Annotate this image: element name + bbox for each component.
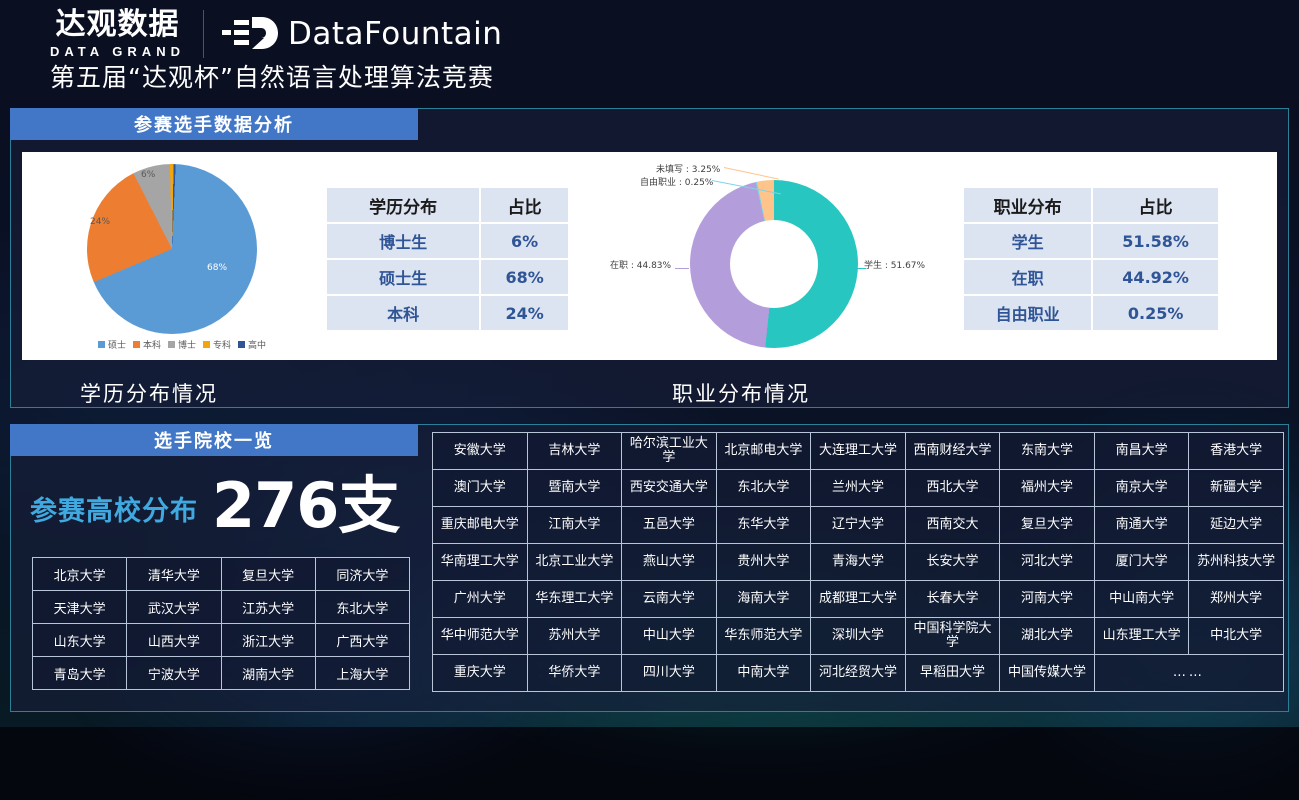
edu-header-0: 学历分布 xyxy=(326,187,480,223)
university-cell: 大连理工大学 xyxy=(811,433,906,470)
university-cell: 早稻田大学 xyxy=(905,655,1000,692)
university-cell: 南京大学 xyxy=(1094,470,1189,507)
school-count-label: 参赛高校分布 xyxy=(30,489,198,536)
donut-label-freelance: 自由职业 : 0.25% xyxy=(640,175,713,188)
legend-label-3: 专科 xyxy=(213,338,231,351)
university-cell: 辽宁大学 xyxy=(811,507,906,544)
job-cell-2-0: 自由职业 xyxy=(963,295,1092,331)
university-cell: 华侨大学 xyxy=(527,655,622,692)
university-cell: 华中师范大学 xyxy=(433,618,528,655)
university-cell: 重庆邮电大学 xyxy=(433,507,528,544)
university-cell: 燕山大学 xyxy=(622,544,717,581)
page-header: 达观数据 DATA GRAND DataFountain 第五届“达观杯”自然语… xyxy=(0,0,1299,100)
caption-occupation: 职业分布情况 xyxy=(672,378,810,408)
university-cell: 山东理工大学 xyxy=(1094,618,1189,655)
university-cell: 湖南大学 xyxy=(221,657,315,690)
datagrand-logo: 达观数据 DATA GRAND xyxy=(50,10,185,58)
university-cell: 贵州大学 xyxy=(716,544,811,581)
legend-label-0: 硕士 xyxy=(108,338,126,351)
university-cell: 华东理工大学 xyxy=(527,581,622,618)
table-row: 澳门大学暨南大学西安交通大学东北大学兰州大学西北大学福州大学南京大学新疆大学 xyxy=(433,470,1284,507)
legend-label-1: 本科 xyxy=(143,338,161,351)
university-cell: 广州大学 xyxy=(433,581,528,618)
edu-cell-1-1: 68% xyxy=(480,259,569,295)
job-cell-2-1: 0.25% xyxy=(1092,295,1219,331)
pie-label-bachelor: 24% xyxy=(90,217,110,227)
university-cell: 郑州大学 xyxy=(1189,581,1284,618)
caption-education: 学历分布情况 xyxy=(80,378,218,408)
university-cell: 北京工业大学 xyxy=(527,544,622,581)
legend-item-3: 专科 xyxy=(203,338,231,351)
table-row: 职业分布 占比 xyxy=(963,187,1219,223)
job-cell-0-0: 学生 xyxy=(963,223,1092,259)
university-cell: 东北大学 xyxy=(716,470,811,507)
university-cell: 东南大学 xyxy=(1000,433,1095,470)
university-cell: 安徽大学 xyxy=(433,433,528,470)
donut-label-unfilled: 未填写 : 3.25% xyxy=(656,162,720,175)
education-pie-chart: 68% 24% 6% 硕士 本科 博士 专科 高中 xyxy=(62,160,302,355)
university-cell: 东北大学 xyxy=(315,591,409,624)
donut-label-employed: 在职 : 44.83% xyxy=(610,258,671,271)
university-cell: 北京大学 xyxy=(33,558,127,591)
table-row: 天津大学武汉大学江苏大学东北大学 xyxy=(33,591,410,624)
pie-graphic xyxy=(87,164,257,334)
university-cell: 南昌大学 xyxy=(1094,433,1189,470)
table-row: 广州大学华东理工大学云南大学海南大学成都理工大学长春大学河南大学中山南大学郑州大… xyxy=(433,581,1284,618)
legend-label-4: 高中 xyxy=(248,338,266,351)
table-row: 自由职业 0.25% xyxy=(963,295,1219,331)
occupation-donut-chart: 学生 : 51.67% 在职 : 44.83% 自由职业 : 0.25% 未填写… xyxy=(612,158,957,356)
university-cell: 湖北大学 xyxy=(1000,618,1095,655)
pie-legend: 硕士 本科 博士 专科 高中 xyxy=(62,338,302,351)
university-cell: 河南大学 xyxy=(1000,581,1095,618)
legend-item-0: 硕士 xyxy=(98,338,126,351)
university-cell: 广西大学 xyxy=(315,624,409,657)
education-distribution-table: 学历分布 占比 博士生 6% 硕士生 68% 本科 24% xyxy=(325,186,570,332)
pie-label-doctor: 6% xyxy=(141,170,155,180)
university-cell: 山东大学 xyxy=(33,624,127,657)
university-cell: 武汉大学 xyxy=(127,591,221,624)
edu-cell-0-1: 6% xyxy=(480,223,569,259)
university-cell: 西北大学 xyxy=(905,470,1000,507)
table-row: 本科 24% xyxy=(326,295,569,331)
university-cell: 西南交大 xyxy=(905,507,1000,544)
featured-universities-table: 北京大学清华大学复旦大学同济大学天津大学武汉大学江苏大学东北大学山东大学山西大学… xyxy=(32,557,410,690)
university-cell: 海南大学 xyxy=(716,581,811,618)
table-row: 华中师范大学苏州大学中山大学华东师范大学深圳大学中国科学院大学湖北大学山东理工大… xyxy=(433,618,1284,655)
university-cell: 天津大学 xyxy=(33,591,127,624)
job-cell-1-0: 在职 xyxy=(963,259,1092,295)
university-cell: 厦门大学 xyxy=(1094,544,1189,581)
university-cell: 青岛大学 xyxy=(33,657,127,690)
table-row: 重庆邮电大学江南大学五邑大学东华大学辽宁大学西南交大复旦大学南通大学延边大学 xyxy=(433,507,1284,544)
table-row: 学历分布 占比 xyxy=(326,187,569,223)
university-cell: 苏州大学 xyxy=(527,618,622,655)
university-cell: 中山南大学 xyxy=(1094,581,1189,618)
university-cell: 清华大学 xyxy=(127,558,221,591)
university-cell: 山西大学 xyxy=(127,624,221,657)
datagrand-logo-en: DATA GRAND xyxy=(50,45,185,58)
job-cell-0-1: 51.58% xyxy=(1092,223,1219,259)
table-row: 北京大学清华大学复旦大学同济大学 xyxy=(33,558,410,591)
legend-item-4: 高中 xyxy=(238,338,266,351)
edu-cell-2-0: 本科 xyxy=(326,295,480,331)
logo-divider xyxy=(203,10,204,58)
university-cell: 江南大学 xyxy=(527,507,622,544)
university-cell: 哈尔滨工业大学 xyxy=(622,433,717,470)
table-row: 华南理工大学北京工业大学燕山大学贵州大学青海大学长安大学河北大学厦门大学苏州科技… xyxy=(433,544,1284,581)
legend-item-1: 本科 xyxy=(133,338,161,351)
table-row: 重庆大学华侨大学四川大学中南大学河北经贸大学早稻田大学中国传媒大学…… xyxy=(433,655,1284,692)
university-cell: 成都理工大学 xyxy=(811,581,906,618)
table-row: 学生 51.58% xyxy=(963,223,1219,259)
university-cell: 青海大学 xyxy=(811,544,906,581)
competition-subtitle: 第五届“达观杯”自然语言处理算法竞赛 xyxy=(50,58,494,94)
university-cell: 南通大学 xyxy=(1094,507,1189,544)
occupation-distribution-table: 职业分布 占比 学生 51.58% 在职 44.92% 自由职业 0.25% xyxy=(962,186,1220,332)
university-cell: 云南大学 xyxy=(622,581,717,618)
university-cell: 重庆大学 xyxy=(433,655,528,692)
university-cell: 兰州大学 xyxy=(811,470,906,507)
datagrand-logo-cn: 达观数据 xyxy=(55,10,179,40)
university-cell: 浙江大学 xyxy=(221,624,315,657)
university-cell: 中南大学 xyxy=(716,655,811,692)
university-cell: 香港大学 xyxy=(1189,433,1284,470)
university-cell: 深圳大学 xyxy=(811,618,906,655)
edu-cell-0-0: 博士生 xyxy=(326,223,480,259)
university-cell: 西南财经大学 xyxy=(905,433,1000,470)
table-row: 博士生 6% xyxy=(326,223,569,259)
university-cell-more: …… xyxy=(1094,655,1283,692)
university-cell: 福州大学 xyxy=(1000,470,1095,507)
university-cell: 新疆大学 xyxy=(1189,470,1284,507)
university-cell: 长安大学 xyxy=(905,544,1000,581)
datafountain-mark-icon xyxy=(222,14,280,54)
table-row: 硕士生 68% xyxy=(326,259,569,295)
panel-title-bottom: 选手院校一览 xyxy=(10,424,418,456)
datafountain-logo: DataFountain xyxy=(222,14,502,54)
edu-cell-1-0: 硕士生 xyxy=(326,259,480,295)
table-row: 安徽大学吉林大学哈尔滨工业大学北京邮电大学大连理工大学西南财经大学东南大学南昌大… xyxy=(433,433,1284,470)
pie-label-master: 68% xyxy=(207,263,227,273)
university-cell: 河北大学 xyxy=(1000,544,1095,581)
university-cell: 宁波大学 xyxy=(127,657,221,690)
university-cell: 上海大学 xyxy=(315,657,409,690)
university-cell: 北京邮电大学 xyxy=(716,433,811,470)
legend-label-2: 博士 xyxy=(178,338,196,351)
university-cell: 四川大学 xyxy=(622,655,717,692)
university-cell: 复旦大学 xyxy=(221,558,315,591)
university-cell: 中国科学院大学 xyxy=(905,618,1000,655)
job-header-1: 占比 xyxy=(1092,187,1219,223)
school-count-row: 参赛高校分布 276支 xyxy=(30,477,399,536)
donut-hole xyxy=(730,220,818,308)
university-cell: 华南理工大学 xyxy=(433,544,528,581)
university-cell: 同济大学 xyxy=(315,558,409,591)
job-cell-1-1: 44.92% xyxy=(1092,259,1219,295)
university-cell: 中北大学 xyxy=(1189,618,1284,655)
edu-cell-2-1: 24% xyxy=(480,295,569,331)
table-row: 青岛大学宁波大学湖南大学上海大学 xyxy=(33,657,410,690)
school-count-value: 276支 xyxy=(212,477,399,536)
university-cell: 苏州科技大学 xyxy=(1189,544,1284,581)
datafountain-logo-text: DataFountain xyxy=(288,16,502,52)
all-universities-table: 安徽大学吉林大学哈尔滨工业大学北京邮电大学大连理工大学西南财经大学东南大学南昌大… xyxy=(432,432,1284,692)
university-cell: 延边大学 xyxy=(1189,507,1284,544)
university-cell: 中山大学 xyxy=(622,618,717,655)
university-cell: 复旦大学 xyxy=(1000,507,1095,544)
university-cell: 江苏大学 xyxy=(221,591,315,624)
university-cell: 中国传媒大学 xyxy=(1000,655,1095,692)
university-cell: 澳门大学 xyxy=(433,470,528,507)
university-cell: 河北经贸大学 xyxy=(811,655,906,692)
university-cell: 华东师范大学 xyxy=(716,618,811,655)
charts-card: 68% 24% 6% 硕士 本科 博士 专科 高中 学历分布 占比 博士生 6%… xyxy=(22,152,1277,360)
university-cell: 五邑大学 xyxy=(622,507,717,544)
university-cell: 东华大学 xyxy=(716,507,811,544)
table-row: 在职 44.92% xyxy=(963,259,1219,295)
job-header-0: 职业分布 xyxy=(963,187,1092,223)
university-cell: 吉林大学 xyxy=(527,433,622,470)
table-row: 山东大学山西大学浙江大学广西大学 xyxy=(33,624,410,657)
university-cell: 西安交通大学 xyxy=(622,470,717,507)
logo-row: 达观数据 DATA GRAND DataFountain xyxy=(50,10,502,58)
legend-item-2: 博士 xyxy=(168,338,196,351)
donut-label-student: 学生 : 51.67% xyxy=(864,258,925,271)
edu-header-1: 占比 xyxy=(480,187,569,223)
panel-title-top: 参赛选手数据分析 xyxy=(10,108,418,140)
university-cell: 长春大学 xyxy=(905,581,1000,618)
university-cell: 暨南大学 xyxy=(527,470,622,507)
